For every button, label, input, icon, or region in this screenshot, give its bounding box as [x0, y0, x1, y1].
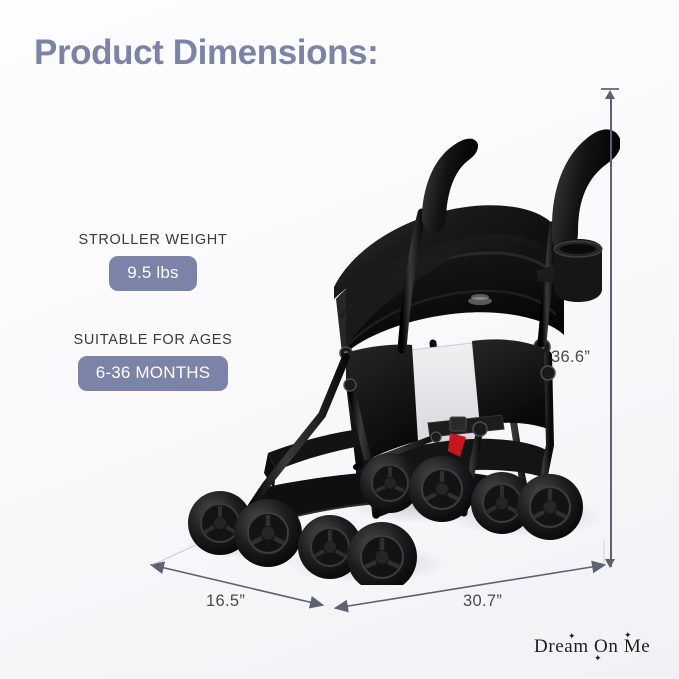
star-icon: ✦: [594, 654, 602, 663]
canopy: [334, 205, 568, 359]
depth-dimension-label: 16.5”: [206, 592, 245, 611]
wheel: [517, 474, 583, 540]
brand-logo-text: Dream On Me: [534, 636, 650, 657]
infographic-canvas: Product Dimensions: STROLLER WEIGHT 9.5 …: [0, 0, 679, 679]
height-dimension-label: 36.6”: [551, 348, 590, 367]
brand-logo: Dream On Me ✦ ✦ ✦: [534, 636, 650, 658]
wheel-set-rear-right: [471, 472, 583, 540]
page-title: Product Dimensions:: [34, 33, 378, 73]
wheel: [409, 456, 475, 522]
wheel: [234, 499, 302, 567]
height-dim-arrow-bottom: [605, 559, 615, 568]
star-icon: ✦: [568, 632, 576, 641]
height-dimension-line: [610, 97, 612, 567]
product-image-stroller: [150, 85, 620, 585]
wheel-set-front-right: [298, 515, 417, 585]
star-icon: ✦: [624, 631, 632, 640]
length-dimension-label: 30.7”: [463, 592, 502, 611]
